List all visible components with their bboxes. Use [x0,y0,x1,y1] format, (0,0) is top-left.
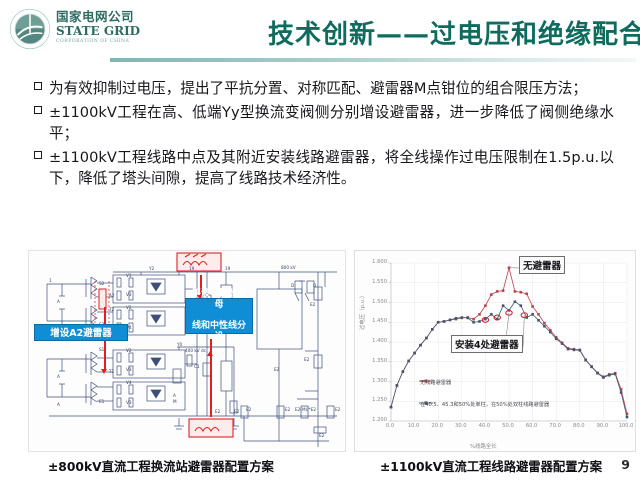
x-tick-label: 70.0 [544,423,566,429]
square-bullet-icon [34,151,49,159]
list-item: ±1100kV工程在高、低端Yy型换流变阀侧分别增设避雷器，进一步降低了阀侧绝缘… [34,102,614,144]
state-grid-logo: 国家电网公司 STATE GRID CORPORATION OF CHINA [6,6,156,52]
svg-text:E2: E2 [335,407,341,412]
svg-text:E2: E2 [246,407,252,412]
svg-text:19: 19 [189,266,195,271]
bullet-text: ±1100kV工程在高、低端Yy型换流变阀侧分别增设避雷器，进一步降低了阀侧绝缘… [49,102,614,144]
callout-a2-label: 增设A2避雷器 [50,328,111,339]
legend-entry-no-arrester: 无线路避雷器 [420,379,451,386]
svg-text:800 kV: 800 kV [281,265,296,270]
x-tick-label: 100.0 [615,423,637,429]
svg-text:V3: V3 [126,292,132,297]
svg-text:E1: E1 [99,399,105,404]
page-title: 技术创新——过电压和绝缘配合 [268,14,640,51]
x-tick-label: 60.0 [521,423,543,429]
svg-text:E2(M)/*E2: E2(M)/*E2 [295,407,316,412]
callout-reactor-line1: 平波电抗器极母 [188,289,250,310]
slide-header: 国家电网公司 STATE GRID CORPORATION OF CHINA 技… [0,0,640,66]
svg-text:Y2: Y2 [148,266,155,271]
x-tick-label: 0.0 [379,423,401,429]
y-tick-label: 1.500 [366,299,387,305]
state-grid-globe-logo [8,7,52,51]
x-tick-label: 50.0 [497,423,519,429]
converter-station-arrester-diagram: 1 A A A A S2 A2 T2 E2 S1 T1 E1 V1 V3 V2 … [28,250,346,452]
svg-text:E2: E2 [304,357,310,362]
bullet-text: ±1100kV工程线路中点及其附近安装线路避雷器，将全线操作过电压限制在1.5p… [49,147,614,189]
logo-english-name: STATE GRID [56,24,154,38]
svg-text:T2: T2 [108,307,115,312]
logo-english-subtitle: CORPORATION OF CHINA [56,38,154,45]
svg-text:E2: E2 [215,409,221,414]
svg-text:M: M [173,399,177,404]
list-item: 为有效抑制过电压，提出了平抗分置、对称匹配、避雷器M点钳位的组合限压方法； [34,78,614,99]
bullet-text: 为有效抑制过电压，提出了平抗分置、对称匹配、避雷器M点钳位的组合限压方法； [49,78,614,99]
chart-x-axis-label: %线路全长 [470,442,497,450]
y-tick-label: 1.350 [366,358,387,364]
svg-text:E2: E2 [234,409,240,414]
circuit-schematic: 1 A A A A S2 A2 T2 E2 S1 T1 E1 V1 V3 V2 … [29,251,347,453]
arrow-a2-head [101,369,107,374]
svg-text:1: 1 [49,278,52,283]
legend-entry-with-arresters: 在40.5、45.3和50%处单柱，在50%处双柱线路避雷器 [420,401,549,408]
y-tick-label: 1.550 [366,279,387,285]
svg-text:T1: T1 [108,369,115,374]
list-item: ±1100kV工程线路中点及其附近安装线路避雷器，将全线操作过电压限制在1.5p… [34,147,614,189]
svg-text:E2: E2 [319,433,325,438]
svg-text:A: A [57,402,60,407]
y-tick-label: 1.600 [366,259,387,265]
svg-text:V3: V3 [126,367,132,372]
chart-y-axis-label: 过电压（p.u.） [358,293,366,330]
y-tick-label: 1.400 [366,338,387,344]
square-bullet-icon [34,82,49,90]
x-tick-label: 90.0 [591,423,613,429]
svg-text:V1: V1 [126,273,132,278]
square-bullet-icon [34,106,49,114]
x-tick-label: 20.0 [426,423,448,429]
x-tick-label: 80.0 [568,423,590,429]
bullet-list: 为有效抑制过电压，提出了平抗分置、对称匹配、避雷器M点钳位的组合限压方法； ±1… [34,78,614,192]
logo-chinese-name: 国家电网公司 [56,10,154,24]
svg-text:V3: V3 [126,400,132,405]
svg-text:A2: A2 [109,293,115,298]
callout-add-a2-arrester[interactable]: 增设A2避雷器 [34,324,128,341]
svg-text:V2: V2 [126,305,132,310]
slide-number: 9 [621,457,630,472]
x-tick-label: 30.0 [450,423,472,429]
svg-text:A: A [57,299,60,304]
svg-text:Y0: Y0 [176,342,183,347]
x-tick-label: 10.0 [403,423,425,429]
right-figure-caption: ±1100kV直流工程线路避雷器配置方案 [380,457,602,475]
arrow-reactor2-head [207,351,213,356]
svg-text:A: A [173,393,176,398]
svg-text:C1: C1 [194,364,200,369]
header-divider [110,58,636,62]
svg-text:D: D [291,283,294,288]
svg-text:E2: E2 [285,407,291,412]
svg-text:D: D [313,283,316,288]
four-arresters-anno: 安装4处避雷器 [451,335,523,353]
svg-text:V2: V2 [126,348,132,353]
x-tick-label: 40.0 [473,423,495,429]
svg-text:A: A [57,374,60,379]
no-arrester-anno: 无避雷器 [519,256,565,274]
svg-text:E2: E2 [310,302,316,307]
left-figure-caption: ±800kV直流工程换流站避雷器配置方案 [48,457,274,475]
y-tick-label: 1.250 [366,397,387,403]
callout-reactor-line2: 线和中性线分设 [188,321,250,342]
svg-text:400 kV dc: 400 kV dc [185,348,207,353]
svg-text:S2: S2 [99,281,105,286]
svg-text:19: 19 [225,266,231,271]
callout-smoothing-reactor[interactable]: 平波电抗器极母 线和中性线分设 [185,298,253,334]
y-tick-label: 1.450 [366,318,387,324]
svg-text:E2: E2 [274,367,280,372]
svg-text:V4: V4 [126,380,132,385]
y-tick-label: 1.300 [366,378,387,384]
